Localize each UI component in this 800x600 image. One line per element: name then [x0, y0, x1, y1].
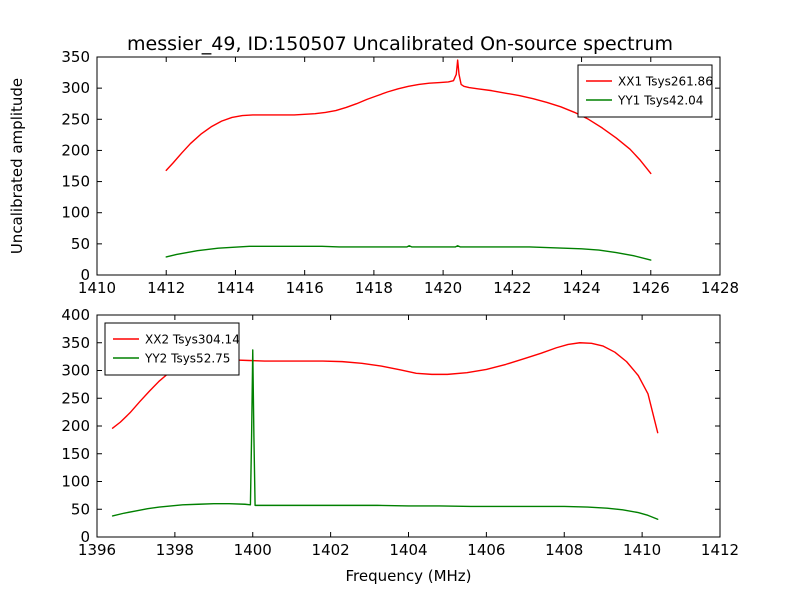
x-tick-label: 1398 — [156, 541, 194, 559]
legend-label: YY1 Tsys42.04 — [617, 94, 703, 108]
x-tick-label: 1416 — [286, 279, 324, 297]
x-tick-label: 1412 — [147, 279, 185, 297]
x-tick-label: 1412 — [701, 541, 739, 559]
x-axis-label: Frequency (MHz) — [345, 567, 471, 585]
x-tick-label: 1422 — [493, 279, 531, 297]
legend-label: YY2 Tsys52.75 — [144, 352, 230, 366]
x-tick-label: 1420 — [424, 279, 462, 297]
y-tick-label: 150 — [61, 173, 90, 191]
y-tick-label: 150 — [61, 445, 90, 463]
figure-title: messier_49, ID:150507 Uncalibrated On-so… — [127, 33, 673, 55]
x-tick-label: 1400 — [234, 541, 272, 559]
y-tick-label: 50 — [71, 500, 90, 518]
x-tick-label: 1406 — [467, 541, 505, 559]
legend-label: XX1 Tsys261.86 — [618, 75, 713, 89]
legend-top: XX1 Tsys261.86YY1 Tsys42.04 — [578, 65, 713, 117]
y-tick-label: 300 — [61, 79, 90, 97]
y-tick-label: 350 — [61, 334, 90, 352]
legend-box — [578, 65, 712, 117]
y-tick-label: 200 — [61, 141, 90, 159]
y-tick-label: 100 — [61, 473, 90, 491]
spectrum-figure: messier_49, ID:150507 Uncalibrated On-so… — [0, 0, 800, 600]
x-tick-label: 1418 — [355, 279, 393, 297]
y-tick-label: 250 — [61, 110, 90, 128]
y-tick-label: 200 — [61, 417, 90, 435]
y-axis-label: Uncalibrated amplitude — [8, 78, 26, 254]
x-tick-label: 1428 — [701, 279, 739, 297]
y-tick-label: 100 — [61, 204, 90, 222]
x-tick-label: 1414 — [216, 279, 254, 297]
figure-canvas: messier_49, ID:150507 Uncalibrated On-so… — [0, 0, 800, 600]
x-tick-label: 1404 — [389, 541, 427, 559]
y-tick-label: 300 — [61, 362, 90, 380]
legend-box — [105, 323, 239, 375]
y-tick-label: 50 — [71, 235, 90, 253]
x-tick-label: 1402 — [312, 541, 350, 559]
x-tick-label: 1408 — [545, 541, 583, 559]
x-tick-label: 1410 — [623, 541, 661, 559]
y-tick-label: 0 — [80, 528, 90, 546]
y-tick-label: 250 — [61, 389, 90, 407]
legend-bottom: XX2 Tsys304.14YY2 Tsys52.75 — [105, 323, 240, 375]
y-tick-label: 400 — [61, 306, 90, 324]
legend-label: XX2 Tsys304.14 — [145, 333, 240, 347]
x-tick-label: 1426 — [632, 279, 670, 297]
x-tick-label: 1424 — [562, 279, 600, 297]
y-tick-label: 350 — [61, 48, 90, 66]
y-tick-label: 0 — [80, 266, 90, 284]
